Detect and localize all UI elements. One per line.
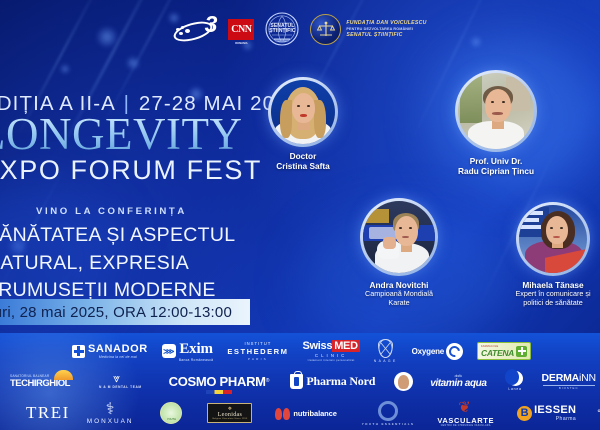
b3-globe-dots	[176, 26, 192, 37]
nutribalance-logo[interactable]: nutribalance	[275, 406, 336, 420]
sunrise-icon	[54, 370, 73, 380]
portrait-art	[271, 80, 335, 144]
youth-essentials-logo[interactable]: YOUTH ESSENTIALS	[362, 401, 415, 426]
biessen-badge-icon: B	[517, 406, 532, 421]
nutribalance-leaf-icon	[275, 406, 290, 420]
header-logo-bar: 3 CNN ROMANIA SENATUL ȘTIINȚIFIC	[0, 11, 600, 47]
lanea-logo[interactable]: Lanea	[508, 371, 523, 391]
cnn-logo: CNN ROMANIA	[228, 19, 254, 40]
sanador-tagline: Medicina la cel de mai	[99, 355, 137, 359]
esthederm-city: PARIS	[248, 357, 268, 361]
exim-tagline: Banca Românească	[179, 358, 214, 362]
page-title: LONGEVITY	[0, 112, 242, 157]
nutricare-logo[interactable]	[394, 372, 413, 391]
b3-tv-logo: 3	[173, 14, 217, 44]
speaker-radu-ciprian-tincu: Prof. Univ Dr. Radu Ciprian Țincu	[455, 70, 537, 176]
senatul-stiintific-seal: SENATUL ȘTIINȚIFIC	[265, 12, 299, 46]
nm-dental-team-logo[interactable]: ⩔ N & M DENTAL TEAM	[99, 373, 142, 389]
longevity-expo-poster: 3 CNN ROMANIA SENATUL ȘTIINȚIFIC	[0, 0, 600, 430]
speaker-photo	[271, 80, 335, 144]
speaker-photo	[519, 205, 587, 273]
seal-text: SENATUL ȘTIINȚIFIC	[265, 12, 299, 46]
romanian-flag-icon	[206, 390, 232, 394]
speaker-caption: Doctor Cristina Safta	[268, 151, 338, 171]
dermainn-part-2: iNN	[579, 372, 596, 384]
bg-bokeh	[60, 64, 70, 74]
sanador-wordmark: SANADOR	[88, 343, 148, 355]
swissmed-clinic-logo[interactable]: SwissMED CLINIC tratament intensiv perso…	[303, 340, 360, 362]
dermainn-divider	[543, 385, 595, 386]
catena-wordmark: CATENA	[481, 348, 514, 358]
cosmo-pharm-logo[interactable]: COSMO PHARM®	[169, 374, 270, 389]
speaker-caption: Mihaela Tănase Expert în comunicare și p…	[510, 280, 596, 308]
nutricare-portrait-icon	[394, 372, 413, 391]
youth-badge-label: YOUTH	[161, 418, 181, 421]
biessen-wordmark: IESSEN	[534, 404, 576, 416]
speaker-caption: Andra Novitchi Campioană Mondială Karate	[360, 280, 438, 308]
pharma-nord-logo[interactable]: Pharma Nord	[290, 374, 375, 389]
portrait-art	[458, 73, 534, 149]
exim-wordmark: Exim	[179, 341, 212, 358]
speaker-photo-ring	[516, 202, 590, 276]
speaker-photo-ring	[455, 70, 537, 152]
date-time-bar: Miercuri, 28 mai 2025, ORA 12:00-13:00	[0, 299, 250, 325]
cnn-wordmark: CNN	[231, 24, 251, 35]
fdv-text-block: FUNDAȚIA DAN VOICULESCU PENTRU DEZVOLTAR…	[346, 20, 426, 37]
swissmed-part-2: MED	[332, 340, 360, 352]
naage-logo[interactable]: NAAGE	[374, 339, 398, 363]
dermainn-part-1: DERMA	[542, 372, 580, 384]
wings-caduceus-icon: ⚕	[106, 402, 115, 418]
speaker-subtitle: Campioană Mondială Karate	[360, 290, 438, 308]
exim-banca-romaneasca-logo[interactable]: ⋙ Exim Banca Românească	[162, 341, 214, 362]
fundatia-dan-voiculescu-logo: FUNDAȚIA DAN VOICULESCU PENTRU DEZVOLTAR…	[310, 14, 426, 45]
speaker-role: Doctor	[268, 151, 338, 161]
vascularte-wordmark: VASCULARTE	[437, 416, 494, 425]
medical-cross-icon	[72, 345, 85, 358]
vascularte-heart-icon: ❦	[458, 400, 473, 416]
vascularte-tagline: CENTRU DE CHIRURGIE VASCULARĂ	[441, 425, 491, 427]
youth-essentials-ring-icon	[378, 401, 398, 421]
crescent-moon-icon	[508, 371, 523, 386]
nutribalance-wordmark: nutribalance	[293, 409, 336, 418]
speaker-caption: Prof. Univ Dr. Radu Ciprian Țincu	[455, 156, 537, 176]
speaker-name: Cristina Safta	[268, 161, 338, 171]
speaker-andra-novitchi: Andra Novitchi Campioană Mondială Karate	[360, 198, 438, 308]
hourglass-svg	[378, 339, 393, 358]
portrait-art	[363, 201, 435, 273]
institut-esthederm-logo[interactable]: INSTITUT ESTHEDERM PARIS	[227, 341, 288, 361]
techirghiol-logo[interactable]: SANATORIUL BALNEAR TECHIRGHIOL	[10, 374, 70, 389]
biessen-pharma-logo[interactable]: B IESSEN Pharma	[517, 404, 576, 422]
speaker-photo-ring	[360, 198, 438, 276]
vitamin-aqua-logo[interactable]: doilu vitamin aqua	[430, 374, 486, 389]
swissmed-wordmark: SwissMED	[303, 340, 360, 352]
esthederm-wordmark: ESTHEDERM	[227, 347, 288, 356]
esthederm-line-1: INSTITUT	[244, 341, 271, 346]
oxygene-logo[interactable]: Oxygene	[412, 343, 463, 360]
conference-kicker: VINO LA CONFERINȚA	[36, 206, 187, 217]
leonidas-logo[interactable]: ❖ Leonidas Belgian Chocolate Since 1913	[207, 403, 252, 423]
dermainn-tagline: BIOSTEC	[559, 386, 579, 390]
speaker-photo-ring	[268, 77, 338, 147]
page-subtitle: EXPO FORUM FEST	[0, 155, 262, 186]
speaker-role: Prof. Univ Dr.	[455, 156, 537, 166]
fdv-line-1: FUNDAȚIA DAN VOICULESCU	[346, 20, 426, 26]
naage-wordmark: NAAGE	[374, 359, 398, 363]
oxygene-wordmark: Oxygene	[412, 347, 444, 356]
dental-tooth-icon: ⩔	[113, 373, 127, 384]
vascularte-logo[interactable]: ❦ VASCULARTE CENTRU DE CHIRURGIE VASCULA…	[437, 400, 494, 427]
swissmed-part-1: Swiss	[303, 340, 333, 352]
scales-of-justice-icon	[316, 19, 336, 39]
cosmo-pharm-trademark: ®	[266, 378, 270, 384]
dermainn-wordmark: DERMAiNN	[542, 372, 596, 384]
cnn-region-label: ROMANIA	[228, 42, 254, 45]
conference-title-line: NATURAL, EXPRESIA	[0, 250, 235, 278]
fdv-emblem	[310, 14, 341, 45]
catena-cross-icon	[516, 346, 527, 357]
swissmed-clinic-label: CLINIC	[315, 353, 347, 358]
seal-line-2: ȘTIINȚIFIC	[269, 29, 295, 34]
exim-mark-icon: ⋙	[162, 344, 176, 358]
fdv-line-3: SENATUL ȘTIINȚIFIC	[346, 32, 426, 38]
nm-dental-wordmark: N & M DENTAL TEAM	[99, 385, 142, 389]
sponsor-row: SANADOR Medicina la cel de mai ⋙ Exim Ba…	[0, 337, 600, 365]
sponsor-row: TREI ⚕ MONXUAN YOUTH ❖ Leonidas Belgian …	[0, 399, 600, 427]
date-time-text: Miercuri, 28 mai 2025, ORA 12:00-13:00	[0, 304, 232, 321]
cosmo-pharm-wordmark: COSMO PHARM	[169, 374, 266, 389]
speaker-cristina-safta: Doctor Cristina Safta	[268, 77, 338, 171]
speaker-photo	[363, 201, 435, 273]
vitamin-aqua-wordmark: vitamin aqua	[430, 378, 486, 389]
b3-numeral: 3	[205, 13, 217, 36]
trei-wordmark: TREI	[26, 403, 70, 423]
sponsor-row: SANATORIUL BALNEAR TECHIRGHIOL ⩔ N & M D…	[0, 367, 600, 395]
fdv-line-2: PENTRU DEZVOLTAREA ROMÂNIEI	[346, 27, 426, 31]
hourglass-icon	[378, 339, 393, 358]
biessen-pharma-label: Pharma	[556, 416, 577, 422]
dermainn-logo[interactable]: DERMAiNN BIOSTEC	[542, 372, 596, 391]
sanador-logo[interactable]: SANADOR Medicina la cel de mai	[72, 343, 148, 359]
trei-logo[interactable]: TREI	[26, 403, 70, 423]
oxygene-spiral-icon	[446, 343, 463, 360]
swissmed-tagline: tratament intensiv personalizat	[308, 358, 355, 362]
monxuan-wordmark: MONXUAN	[87, 418, 134, 425]
speaker-mihaela-tanase: Mihaela Tănase Expert în comunicare și p…	[516, 202, 600, 308]
lanea-wordmark: Lanea	[508, 387, 521, 391]
portrait-art	[519, 205, 587, 273]
conference-title-line: SĂNĂTATEA ȘI ASPECTUL	[0, 222, 235, 250]
catena-logo[interactable]: FARMACIILE CATENA	[477, 342, 531, 360]
leonidas-tagline: Belgian Chocolate Since 1913	[212, 418, 247, 420]
youth-brand-logo[interactable]: YOUTH	[160, 402, 182, 424]
youth-badge-icon: YOUTH	[160, 402, 182, 424]
youth-essentials-wordmark: YOUTH ESSENTIALS	[362, 422, 415, 426]
sponsor-logo-bar: SANADOR Medicina la cel de mai ⋙ Exim Ba…	[0, 333, 600, 430]
speaker-photo	[458, 73, 534, 149]
pharma-nord-wordmark: Pharma Nord	[306, 374, 375, 389]
speaker-subtitle: Expert în comunicare și politici de sănă…	[510, 290, 596, 308]
speaker-name: Radu Ciprian Țincu	[455, 166, 537, 176]
conference-title: SĂNĂTATEA ȘI ASPECTUL NATURAL, EXPRESIA …	[0, 222, 235, 305]
bg-bokeh	[126, 56, 140, 70]
pharma-nord-cup-icon	[290, 374, 303, 389]
monxuan-logo[interactable]: ⚕ MONXUAN	[87, 402, 134, 425]
